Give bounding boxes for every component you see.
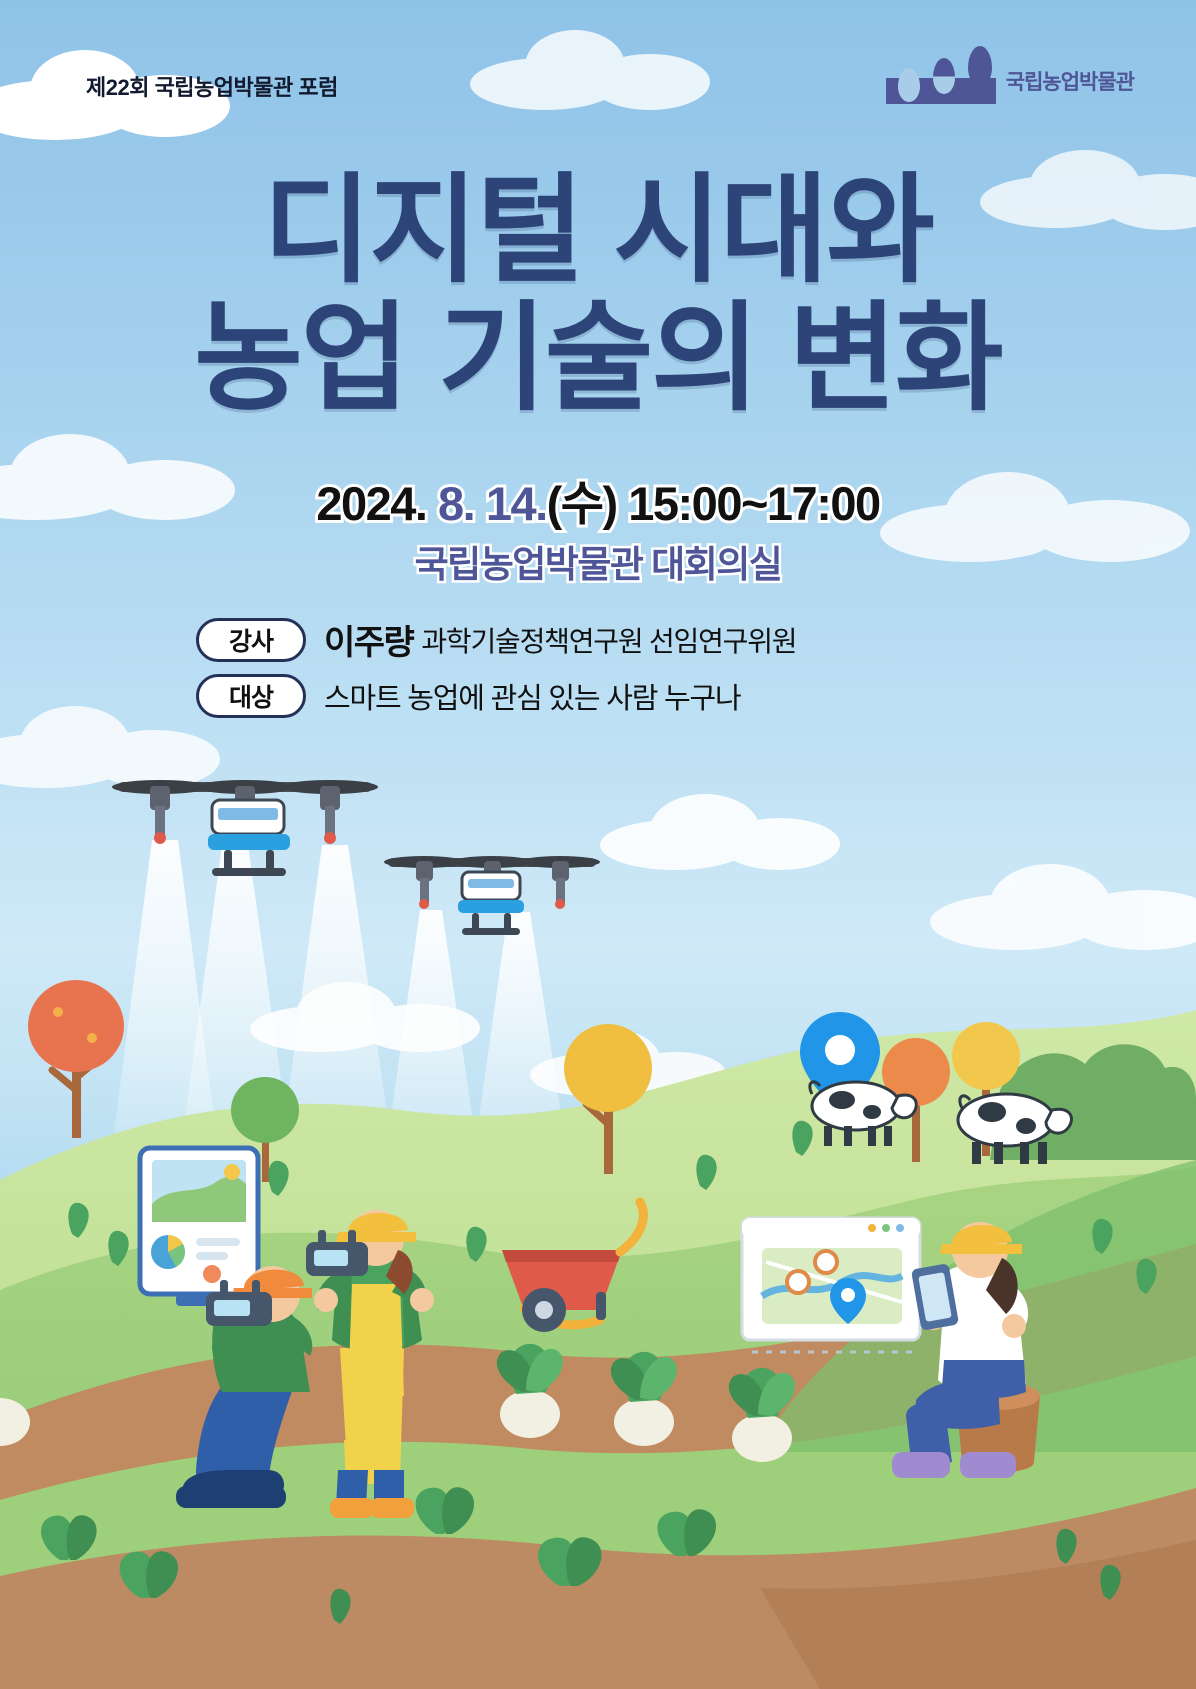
tree-autumn-red: [28, 980, 124, 1138]
dashboard-monitor: [140, 1148, 258, 1306]
poster-root: 제22회 국립농업박물관 포럼 국립농업박물관 디지털 시대와 농업 기술의 변…: [0, 0, 1196, 1689]
smart-farm-illustration: [0, 0, 1196, 1689]
spray-drone-icon: [384, 856, 600, 935]
map-panel: [742, 1218, 920, 1352]
